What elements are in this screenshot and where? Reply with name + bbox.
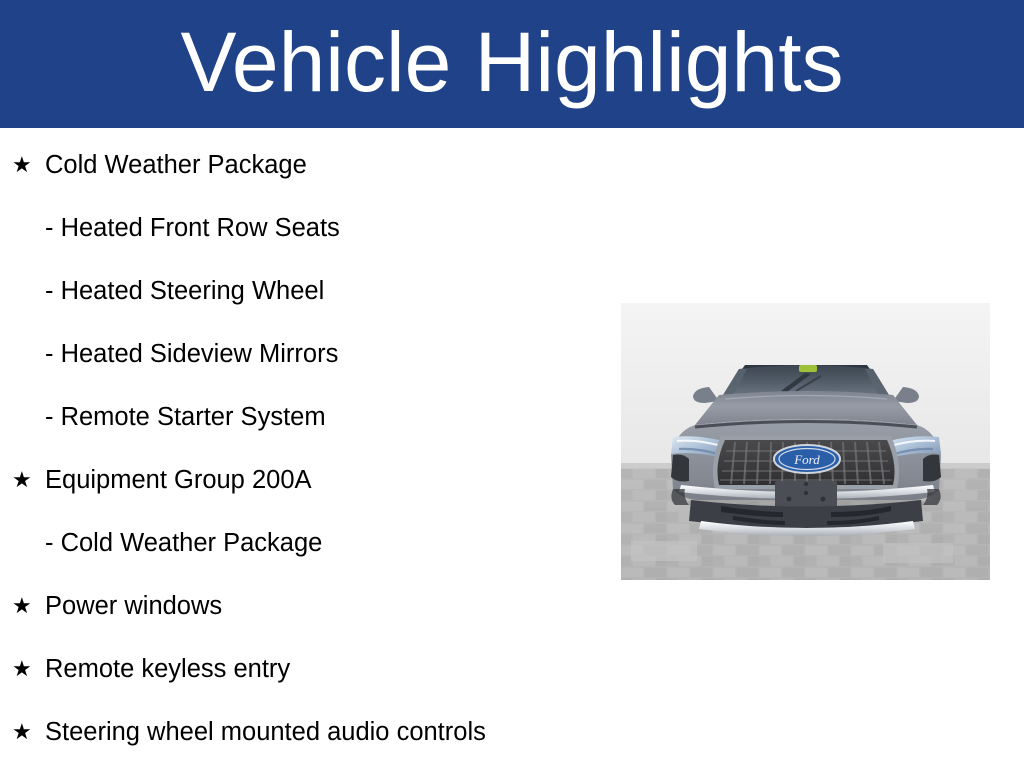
highlight-item-label: Steering wheel mounted audio controls [45, 718, 486, 746]
header-banner: Vehicle Highlights [0, 0, 1024, 128]
ford-badge-text: Ford [793, 452, 820, 467]
windshield-sticker [799, 365, 817, 372]
highlight-item: - Heated Front Row Seats [0, 197, 620, 260]
star-bullet-icon: ★ [12, 658, 45, 680]
highlight-item-label: Power windows [45, 592, 222, 620]
highlight-item-label: - Heated Sideview Mirrors [45, 340, 338, 368]
star-bullet-icon: ★ [12, 721, 45, 743]
star-bullet-icon: ★ [12, 595, 45, 617]
highlight-item-label: Cold Weather Package [45, 151, 307, 179]
star-bullet-icon: ★ [12, 469, 45, 491]
star-bullet-icon: ★ [12, 154, 45, 176]
highlight-item: - Heated Sideview Mirrors [0, 323, 620, 386]
vehicle-photo-illustration: Ford [621, 303, 990, 580]
highlight-item: - Remote Starter System [0, 386, 620, 449]
highlight-item-label: Remote keyless entry [45, 655, 290, 683]
highlight-item: ★Remote keyless entry [0, 638, 620, 701]
left-fog-housing [671, 455, 689, 482]
highlight-item-label: - Remote Starter System [45, 403, 326, 431]
highlight-item: - Heated Steering Wheel [0, 260, 620, 323]
highlight-item: - Cold Weather Package [0, 512, 620, 575]
vehicle-front-photo: Ford [621, 303, 990, 580]
highlight-item: ★Power windows [0, 575, 620, 638]
highlight-item: ★Equipment Group 200A [0, 449, 620, 512]
highlight-item-label: - Heated Steering Wheel [45, 277, 324, 305]
page-title: Vehicle Highlights [180, 20, 843, 104]
highlight-item: ★Cold Weather Package [0, 134, 620, 197]
highlight-item-label: Equipment Group 200A [45, 466, 312, 494]
vehicle-highlights-list: ★Cold Weather Package- Heated Front Row … [0, 134, 620, 764]
highlight-item: ★Steering wheel mounted audio controls [0, 701, 620, 764]
right-fog-housing [923, 455, 941, 482]
highlight-item-label: - Heated Front Row Seats [45, 214, 340, 242]
highlight-item-label: - Cold Weather Package [45, 529, 322, 557]
